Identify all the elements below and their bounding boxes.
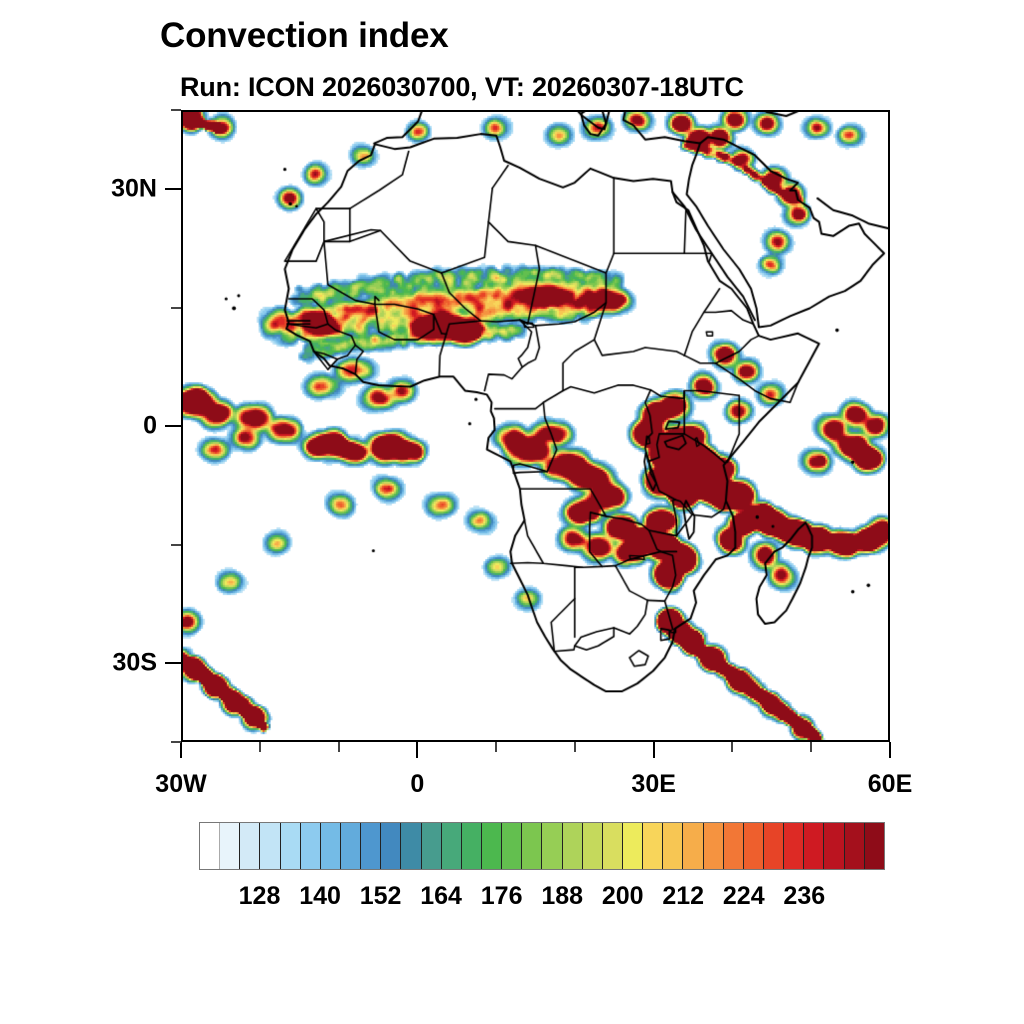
y-axis-tick <box>165 662 181 664</box>
colorbar-tick-label: 128 <box>239 882 281 911</box>
colorbar-cell <box>321 823 341 869</box>
colorbar-cell <box>522 823 542 869</box>
y-axis-tick <box>171 741 181 743</box>
colorbar-cell <box>683 823 703 869</box>
colorbar-cell <box>623 823 643 869</box>
colorbar-tick-label: 140 <box>299 882 341 911</box>
colorbar-tick-label: 212 <box>662 882 704 911</box>
colorbar-cell <box>583 823 603 869</box>
colorbar-cell <box>462 823 482 869</box>
colorbar-cell <box>341 823 361 869</box>
colorbar-cell <box>240 823 260 869</box>
colorbar-cell <box>865 823 884 869</box>
colorbar-cell <box>663 823 683 869</box>
x-axis-tick <box>338 742 340 752</box>
map-plot-area[interactable] <box>181 110 890 742</box>
run-valid-time-subtitle: Run: ICON 2026030700, VT: 20260307-18UTC <box>180 72 744 103</box>
colorbar-cell <box>401 823 421 869</box>
colorbar-cell <box>281 823 301 869</box>
colorbar-cell <box>442 823 462 869</box>
colorbar-cell <box>542 823 562 869</box>
colorbar-tick-label: 188 <box>541 882 583 911</box>
colorbar-tick-label: 152 <box>360 882 402 911</box>
y-axis-tick <box>165 188 181 190</box>
colorbar-cell <box>643 823 663 869</box>
x-axis-label: 60E <box>868 770 912 799</box>
colorbar-tick-label: 224 <box>723 882 765 911</box>
y-axis-label: 30S <box>113 649 157 678</box>
x-axis-tick <box>259 742 261 752</box>
colorbar-tick-label: 176 <box>481 882 523 911</box>
x-axis-tick <box>495 742 497 752</box>
x-axis-label: 0 <box>410 770 424 799</box>
y-axis-tick <box>171 109 181 111</box>
x-axis-tick <box>574 742 576 752</box>
x-axis-tick <box>653 742 655 758</box>
colorbar-cell <box>804 823 824 869</box>
colorbar-cell <box>704 823 724 869</box>
colorbar-cell <box>845 823 865 869</box>
colorbar-cell <box>361 823 381 869</box>
y-axis-label: 30N <box>111 175 157 204</box>
y-axis-tick <box>171 307 181 309</box>
colorbar-tick-label: 200 <box>602 882 644 911</box>
y-axis-label: 0 <box>143 412 157 441</box>
colorbar-cell <box>502 823 522 869</box>
colorbar-cell <box>764 823 784 869</box>
x-axis-label: 30W <box>155 770 206 799</box>
x-axis-tick <box>416 742 418 758</box>
colorbar-tick-label: 236 <box>783 882 825 911</box>
colorbar-cell <box>744 823 764 869</box>
colorbar-cell <box>563 823 583 869</box>
convection-index-heatmap <box>183 112 888 740</box>
colorbar-cell <box>603 823 623 869</box>
y-axis-tick <box>165 425 181 427</box>
colorbar-cell <box>220 823 240 869</box>
x-axis-label: 30E <box>631 770 675 799</box>
x-axis-tick <box>889 742 891 758</box>
colorbar-cell <box>482 823 502 869</box>
colorbar-tick-label: 164 <box>420 882 462 911</box>
y-axis-tick <box>171 544 181 546</box>
colorbar-cell <box>260 823 280 869</box>
colorbar-cell <box>422 823 442 869</box>
x-axis-tick <box>180 742 182 758</box>
colorbar-cell <box>200 823 220 869</box>
colorbar-cell <box>724 823 744 869</box>
colorbar-cell <box>381 823 401 869</box>
colorbar[interactable] <box>199 822 885 870</box>
colorbar-cell <box>784 823 804 869</box>
x-axis-tick <box>810 742 812 752</box>
colorbar-cell <box>301 823 321 869</box>
x-axis-tick <box>731 742 733 752</box>
page-title: Convection index <box>160 16 449 56</box>
colorbar-cell <box>824 823 844 869</box>
